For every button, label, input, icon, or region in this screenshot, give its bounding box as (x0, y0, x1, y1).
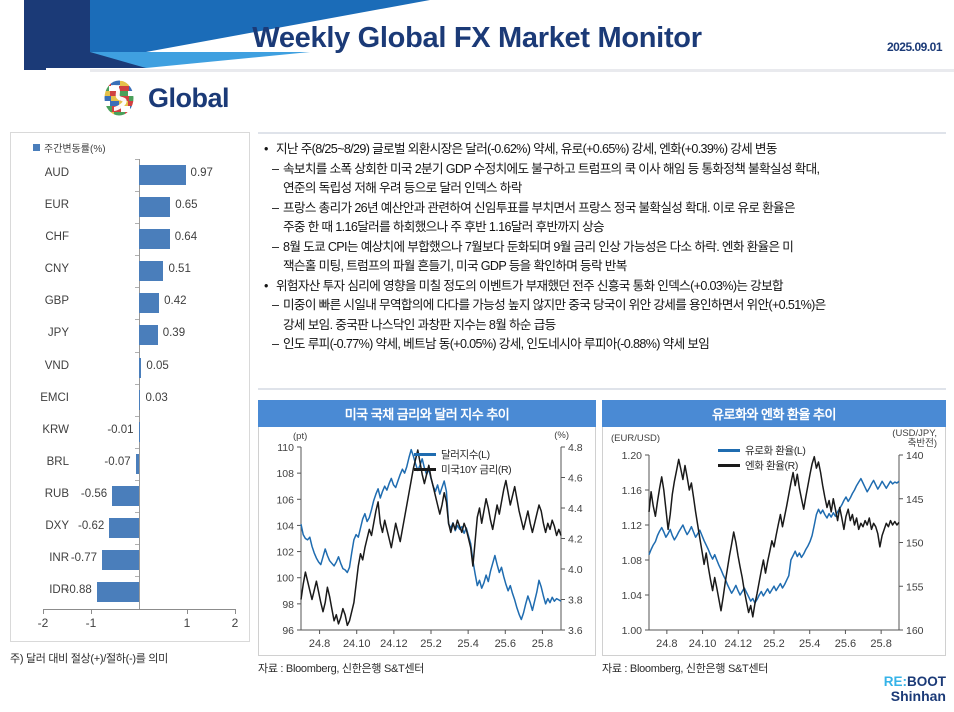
bar-row: JPY0.39 (11, 319, 249, 351)
section-heading: Global (100, 74, 229, 122)
svg-text:3.8: 3.8 (568, 595, 583, 607)
commentary-subbullet: –인도 루피(-0.77%) 약세, 베트남 동(+0.05%) 강세, 인도네… (272, 335, 942, 355)
bar-rect (139, 197, 170, 217)
logo-bottom-text: Shinhan (884, 689, 946, 704)
bar-axis-tick (135, 352, 139, 353)
bar-axis-tick (135, 544, 139, 545)
chart-legend-item: 달러지수(L) (414, 447, 490, 462)
legend-label: 엔화 환율(R) (745, 458, 798, 473)
bar-rect (139, 390, 140, 410)
bar-category-label: AUD (21, 167, 69, 179)
bar-row: CNY0.51 (11, 255, 249, 287)
legend-line-icon (718, 449, 740, 452)
chart-title-ust-dxy: 미국 국채 금리와 달러 지수 추이 (258, 400, 596, 427)
svg-text:24.8: 24.8 (656, 638, 677, 650)
page-root: Weekly Global FX Market Monitor 2025.09.… (0, 0, 954, 712)
bar-rect (139, 358, 141, 378)
bar-row: KRW-0.01 (11, 416, 249, 448)
globe-flags-icon (100, 79, 138, 117)
svg-text:24.12: 24.12 (380, 638, 408, 650)
x-axis-endcap (235, 609, 236, 614)
bar-value-label: -0.88 (66, 584, 92, 596)
bar-rect (139, 422, 140, 442)
commentary-text-continuation: 강세 보임. 중국판 나스닥인 과창판 지수는 8월 하순 급등 (283, 316, 942, 336)
legend-line-icon (414, 468, 436, 471)
right-axis-unit: (%) (554, 431, 569, 441)
svg-text:104: 104 (276, 520, 294, 532)
svg-text:140: 140 (906, 450, 924, 462)
bar-value-label: 0.05 (146, 360, 168, 372)
bar-axis-tick (135, 255, 139, 256)
legend-line-icon (414, 453, 436, 456)
bar-category-label: IDR (21, 584, 69, 596)
svg-text:25.4: 25.4 (457, 638, 478, 650)
left-axis-unit: (pt) (293, 431, 307, 442)
commentary-text-continuation: 연준의 독립성 저해 우려 등으로 달러 인덱스 하락 (283, 179, 942, 199)
bar-axis-tick (135, 287, 139, 288)
bar-row: VND0.05 (11, 352, 249, 384)
bar-rect (136, 454, 139, 474)
svg-text:155: 155 (906, 581, 924, 593)
svg-text:25.2: 25.2 (420, 638, 441, 650)
svg-text:24.12: 24.12 (725, 638, 753, 650)
svg-text:102: 102 (276, 547, 294, 559)
commentary-text-continuation: 잭슨홀 미팅, 트럼프의 파월 흔들기, 미국 GDP 등을 확인하며 등락 반… (283, 257, 942, 277)
bar-category-label: VND (21, 360, 69, 372)
chart-legend-item: 엔화 환율(R) (718, 458, 798, 473)
svg-text:4.4: 4.4 (568, 503, 583, 515)
header-date: 2025.09.01 (887, 40, 942, 54)
svg-text:1.16: 1.16 (622, 485, 643, 497)
commentary-text: 지난 주(8/25~8/29) 글로벌 외환시장은 달러(-0.62%) 약세,… (276, 140, 942, 160)
commentary-text: 속보치를 소폭 상회한 미국 2분기 GDP 수정치에도 불구하고 트럼프의 쿡… (283, 160, 942, 180)
bar-value-label: 0.97 (191, 167, 213, 179)
svg-text:145: 145 (906, 494, 924, 506)
bar-value-label: -0.62 (78, 520, 104, 532)
bar-row: BRL-0.07 (11, 448, 249, 480)
logo-re-text: RE: (884, 674, 907, 689)
reboot-shinhan-logo: RE:BOOT Shinhan (884, 675, 946, 704)
bar-chart-legend: 주간변동률(%) (33, 140, 106, 155)
bar-value-label: 0.51 (168, 263, 190, 275)
bar-axis-tick (135, 384, 139, 385)
commentary-subbullet: –미중이 빠른 시일내 무역합의에 다다를 가능성 높지 않지만 중국 당국이 … (272, 296, 942, 316)
bar-rect (139, 165, 186, 185)
svg-text:25.6: 25.6 (495, 638, 516, 650)
x-axis-tick (187, 609, 188, 614)
bar-value-label: 0.03 (145, 392, 167, 404)
svg-text:25.6: 25.6 (835, 638, 856, 650)
svg-text:1.04: 1.04 (622, 590, 643, 602)
commentary-text: 위험자산 투자 심리에 영향을 미칠 정도의 이벤트가 부재했던 전주 신흥국 … (276, 277, 942, 297)
svg-text:106: 106 (276, 494, 294, 506)
commentary-subbullet: –프랑스 총리가 26년 예산안과 관련하여 신임투표를 부치면서 프랑스 정국… (272, 199, 942, 219)
commentary-text: 미중이 빠른 시일내 무역합의에 다다를 가능성 높지 않지만 중국 당국이 위… (283, 296, 942, 316)
x-axis-tick (91, 609, 92, 614)
x-axis-label: -1 (86, 616, 97, 630)
bar-x-axis: -2-112 (11, 609, 249, 639)
weekly-change-bar-chart: 주간변동률(%) AUD0.97EUR0.65CHF0.64CNY0.51GBP… (10, 132, 250, 642)
bar-category-label: INR (21, 552, 69, 564)
legend-label: 미국10Y 금리(R) (441, 462, 511, 477)
bar-rect (139, 325, 158, 345)
section-title: Global (148, 83, 229, 114)
svg-text:1.00: 1.00 (622, 625, 643, 637)
commentary-bullet: •지난 주(8/25~8/29) 글로벌 외환시장은 달러(-0.62%) 약세… (264, 140, 942, 160)
svg-text:24.10: 24.10 (343, 638, 371, 650)
svg-text:108: 108 (276, 468, 294, 480)
bar-category-label: EMCI (21, 392, 69, 404)
bar-rect (112, 486, 139, 506)
bar-axis-tick (135, 416, 139, 417)
bar-axis-tick (135, 223, 139, 224)
bar-category-label: JPY (21, 327, 69, 339)
bullet-marker-icon: – (272, 199, 283, 219)
chart-legend-item: 유로화 환율(L) (718, 443, 805, 458)
bar-row: RUB-0.56 (11, 480, 249, 512)
bar-value-label: -0.07 (104, 456, 130, 468)
bar-value-label: -0.01 (107, 424, 133, 436)
svg-text:96: 96 (282, 625, 294, 637)
bullet-marker-icon: • (264, 140, 276, 160)
left-axis-unit: (EUR/USD) (611, 433, 660, 444)
bar-row: EMCI0.03 (11, 384, 249, 416)
svg-text:160: 160 (906, 625, 924, 637)
svg-text:25.8: 25.8 (532, 638, 553, 650)
svg-text:25.4: 25.4 (799, 638, 820, 650)
bar-rect (109, 518, 139, 538)
series-line (649, 479, 899, 603)
bullet-marker-icon: • (264, 277, 276, 297)
page-title: Weekly Global FX Market Monitor (0, 22, 954, 55)
legend-label: 유로화 환율(L) (745, 443, 805, 458)
page-header: Weekly Global FX Market Monitor 2025.09.… (0, 0, 954, 74)
bar-value-label: -0.77 (71, 552, 97, 564)
commentary-subbullet: –속보치를 소폭 상회한 미국 2분기 GDP 수정치에도 불구하고 트럼프의 … (272, 160, 942, 180)
bar-axis-tick (135, 191, 139, 192)
bullet-marker-icon: – (272, 335, 283, 355)
svg-text:25.8: 25.8 (870, 638, 891, 650)
svg-text:4.8: 4.8 (568, 442, 583, 454)
svg-text:4.6: 4.6 (568, 473, 583, 485)
bar-axis-tick (135, 576, 139, 577)
commentary-text-continuation: 주중 한 때 1.16달러를 하회했으나 주 후반 1.16달러 후반까지 상승 (283, 218, 942, 238)
bar-category-label: CHF (21, 231, 69, 243)
svg-text:25.2: 25.2 (763, 638, 784, 650)
bar-axis-line (43, 609, 235, 610)
svg-text:1.12: 1.12 (622, 520, 643, 532)
chart-title-eur-jpy: 유로화와 엔화 환율 추이 (602, 400, 946, 427)
x-axis-label: 2 (232, 616, 239, 630)
bar-rect (139, 293, 159, 313)
bullet-marker-icon: – (272, 160, 283, 180)
header-divider (90, 69, 954, 72)
svg-text:4.2: 4.2 (568, 534, 583, 546)
chart-body-eur-jpy: 1.001.041.081.121.161.201401451501551602… (602, 427, 946, 656)
chart-panel-eur-jpy: 유로화와 엔화 환율 추이 1.001.041.081.121.161.2014… (602, 400, 946, 656)
bar-rect (97, 582, 139, 602)
svg-text:110: 110 (277, 442, 294, 454)
bar-plot-area: AUD0.97EUR0.65CHF0.64CNY0.51GBP0.42JPY0.… (11, 159, 249, 609)
svg-text:100: 100 (276, 573, 294, 585)
bar-value-label: -0.56 (81, 488, 107, 500)
commentary-subbullet: –8월 도쿄 CPI는 예상치에 부합했으나 7월보다 둔화되며 9월 금리 인… (272, 238, 942, 258)
x-axis-label: -2 (38, 616, 49, 630)
bar-row: IDR-0.88 (11, 576, 249, 608)
bar-row: CHF0.64 (11, 223, 249, 255)
logo-top-line: RE:BOOT (884, 675, 946, 689)
bar-axis-tick (135, 448, 139, 449)
bar-category-label: RUB (21, 488, 69, 500)
chart-panel-ust-dxy: 미국 국채 금리와 달러 지수 추이 969810010210410610811… (258, 400, 596, 656)
bar-row: INR-0.77 (11, 544, 249, 576)
commentary-text: 8월 도쿄 CPI는 예상치에 부합했으나 7월보다 둔화되며 9월 금리 인상… (283, 238, 942, 258)
svg-text:4.0: 4.0 (568, 564, 583, 576)
bar-category-label: DXY (21, 520, 69, 532)
commentary-bullet: •위험자산 투자 심리에 영향을 미칠 정도의 이벤트가 부재했던 전주 신흥국… (264, 277, 942, 297)
svg-text:98: 98 (282, 599, 294, 611)
commentary-text: 인도 루피(-0.77%) 약세, 베트남 동(+0.05%) 강세, 인도네시… (283, 335, 942, 355)
bar-category-label: BRL (21, 456, 69, 468)
bar-axis-tick (135, 512, 139, 513)
bar-category-label: GBP (21, 295, 69, 307)
svg-text:1.08: 1.08 (622, 555, 643, 567)
chart-body-ust-dxy: 96981001021041061081103.63.84.04.24.44.6… (258, 427, 596, 656)
commentary-text: 프랑스 총리가 26년 예산안과 관련하여 신임투표를 부치면서 프랑스 정국 … (283, 199, 942, 219)
legend-swatch-icon (33, 144, 40, 151)
commentary-panel: •지난 주(8/25~8/29) 글로벌 외환시장은 달러(-0.62%) 약세… (258, 132, 946, 390)
bar-axis-tick (135, 480, 139, 481)
bullet-marker-icon: – (272, 238, 283, 258)
svg-text:150: 150 (906, 538, 924, 550)
bar-category-label: EUR (21, 199, 69, 211)
bar-category-label: CNY (21, 263, 69, 275)
svg-text:24.10: 24.10 (689, 638, 717, 650)
bar-row: AUD0.97 (11, 159, 249, 191)
bar-axis-tick (135, 319, 139, 320)
svg-text:3.6: 3.6 (568, 625, 583, 637)
chart-legend-item: 미국10Y 금리(R) (414, 462, 511, 477)
bar-value-label: 0.39 (163, 327, 185, 339)
bar-row: GBP0.42 (11, 287, 249, 319)
bar-row: EUR0.65 (11, 191, 249, 223)
logo-boot-text: BOOT (907, 674, 946, 689)
bar-value-label: 0.64 (175, 231, 197, 243)
svg-text:1.20: 1.20 (622, 450, 643, 462)
svg-text:24.8: 24.8 (309, 638, 330, 650)
legend-line-icon (718, 464, 740, 467)
bar-category-label: KRW (21, 424, 69, 436)
bar-value-label: 0.65 (175, 199, 197, 211)
bar-legend-label: 주간변동률(%) (44, 140, 106, 155)
bar-chart-note: 주) 달러 대비 절상(+)/절하(-)를 의미 (10, 650, 168, 666)
legend-label: 달러지수(L) (441, 447, 490, 462)
x-axis-endcap (43, 609, 44, 614)
right-axis-unit: (USD/JPY, 축반전) (892, 429, 937, 449)
bar-row: DXY-0.62 (11, 512, 249, 544)
source-note-right: 자료 : Bloomberg, 신한은행 S&T센터 (602, 660, 768, 676)
bar-rect (139, 261, 163, 281)
bar-rect (139, 229, 170, 249)
bar-value-label: 0.42 (164, 295, 186, 307)
x-axis-label: 1 (184, 616, 191, 630)
bar-axis-tick (135, 159, 139, 160)
source-note-left: 자료 : Bloomberg, 신한은행 S&T센터 (258, 660, 424, 676)
bullet-marker-icon: – (272, 296, 283, 316)
bar-rect (102, 550, 139, 570)
